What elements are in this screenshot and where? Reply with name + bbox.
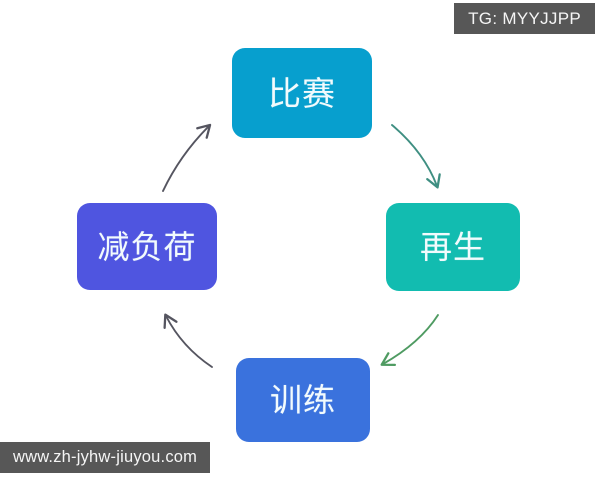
telegram-handle-text: TG: MYYJJPP (468, 9, 581, 29)
cycle-node-competition-label: 比赛 (268, 77, 336, 110)
cycle-node-training-label: 训练 (270, 384, 336, 416)
cycle-node-regeneration[interactable]: 再生 (386, 203, 520, 291)
telegram-handle-badge: TG: MYYJJPP (454, 3, 595, 34)
cycle-node-regeneration-label: 再生 (420, 231, 486, 263)
site-watermark: www.zh-jyhw-jiuyou.com (0, 442, 210, 473)
arrow-top-to-right (392, 125, 437, 186)
site-watermark-text: www.zh-jyhw-jiuyou.com (13, 448, 197, 467)
cycle-node-competition[interactable]: 比赛 (232, 48, 372, 138)
cycle-node-training[interactable]: 训练 (236, 358, 370, 442)
arrow-bottom-to-left (166, 316, 212, 367)
cycle-node-load-reduction-label: 减负荷 (97, 231, 196, 263)
cycle-diagram: 比赛 再生 训练 减负荷 (0, 0, 600, 480)
cycle-node-load-reduction[interactable]: 减负荷 (77, 203, 217, 290)
arrow-left-to-top (163, 126, 209, 191)
screenshot-canvas: 比赛 再生 训练 减负荷 TG: MYYJJPP www.zh-jyhw-jiu… (0, 0, 600, 480)
arrow-right-to-bottom (383, 315, 438, 364)
